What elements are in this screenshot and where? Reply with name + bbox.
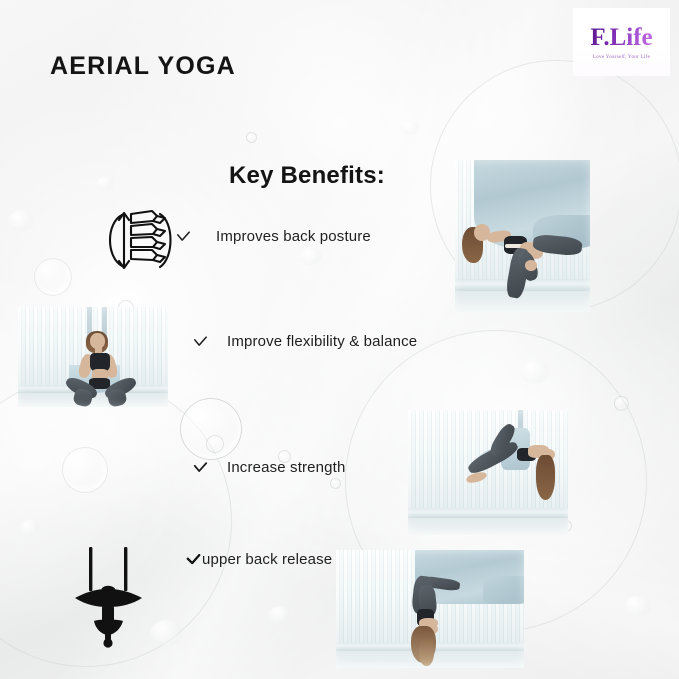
brand-name: F.Life [590, 25, 652, 50]
background-bubble [330, 478, 341, 489]
background-droplet [300, 248, 322, 265]
benefit-item: upper back release [186, 551, 332, 568]
benefit-label: upper back release [202, 551, 332, 568]
background-droplet [96, 176, 114, 191]
background-droplet [520, 360, 550, 384]
benefit-label: Improve flexibility & balance [227, 333, 417, 350]
background-bubble [206, 435, 224, 453]
benefit-label: Increase strength [227, 459, 345, 476]
aerial-swing-icon [62, 545, 158, 650]
background-droplet [268, 606, 292, 625]
background-droplet [400, 120, 420, 135]
background-bubble [614, 396, 629, 411]
check-icon [176, 231, 193, 243]
background-droplet [8, 210, 34, 232]
benefit-item: Increase strength [193, 459, 345, 476]
background-droplet [20, 520, 40, 536]
photo-aerial-recline [455, 160, 590, 312]
check-icon [193, 336, 210, 348]
photo-aerial-inversion [408, 410, 568, 535]
background-bubble [34, 258, 72, 296]
brand-tagline: Love Yourself, Your Life [593, 55, 650, 60]
background-droplet [624, 596, 652, 617]
check-icon [186, 554, 201, 566]
background-bubble [62, 447, 108, 493]
check-icon [193, 462, 210, 474]
section-heading: Key Benefits: [229, 162, 385, 190]
photo-aerial-full-inversion [336, 550, 524, 668]
background-bubble [246, 132, 257, 143]
brand-logo: F.Life Love Yourself, Your Life [573, 8, 670, 76]
photo-aerial-seated-prayer [18, 307, 168, 407]
benefit-item: Improve flexibility & balance [193, 333, 417, 350]
aerial-yoga-infographic: AERIAL YOGA F.Life Love Yourself, Your L… [0, 0, 679, 679]
spine-icon [100, 205, 178, 275]
benefit-item: Improves back posture [176, 228, 371, 245]
benefit-label: Improves back posture [216, 228, 371, 245]
page-title: AERIAL YOGA [50, 52, 236, 81]
